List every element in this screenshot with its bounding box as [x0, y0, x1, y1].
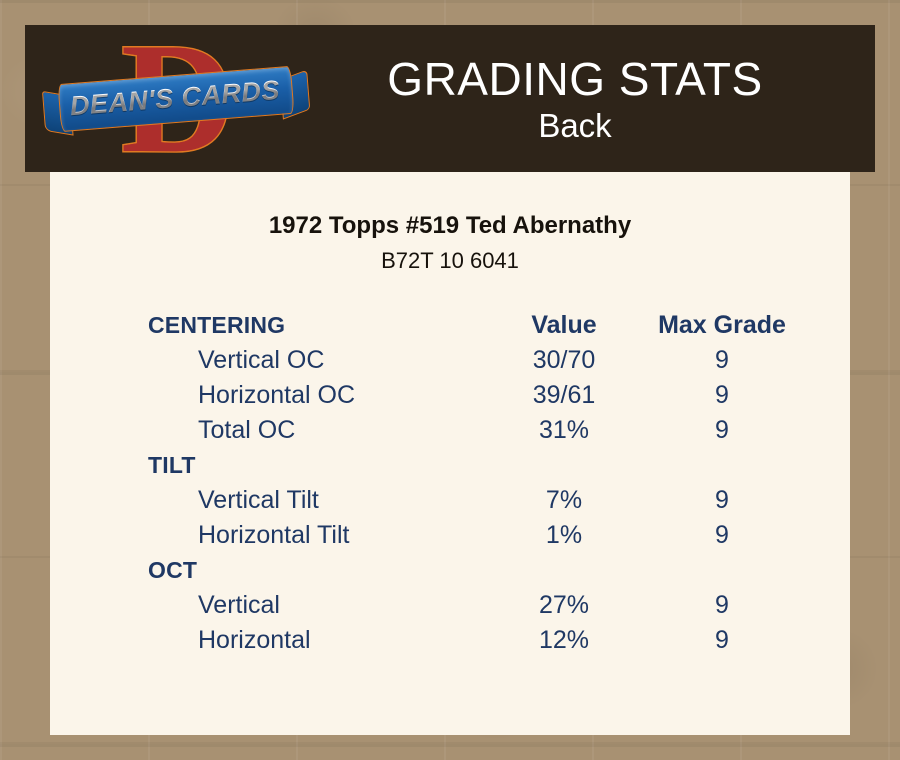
- table-row: Vertical27%9: [148, 588, 800, 623]
- stat-value: 12%: [484, 623, 644, 658]
- page-subtitle: Back: [305, 106, 845, 146]
- stat-max-grade: 9: [644, 483, 800, 518]
- section-title: OCT: [148, 553, 484, 588]
- stat-value: 27%: [484, 588, 644, 623]
- logo-wordmark: DEAN'S CARDS: [48, 65, 303, 131]
- stat-max-grade: 9: [644, 413, 800, 448]
- table-row: Horizontal OC39/619: [148, 378, 800, 413]
- column-header-value: Value: [484, 308, 644, 343]
- stat-label: Horizontal OC: [148, 378, 484, 413]
- stat-max-grade: 9: [644, 343, 800, 378]
- section-header-row: TILT: [148, 448, 800, 483]
- section-header-row: CENTERINGValueMax Grade: [148, 308, 800, 343]
- table-row: Vertical Tilt7%9: [148, 483, 800, 518]
- stat-label: Vertical: [148, 588, 484, 623]
- card-identifier: B72T 10 6041: [50, 248, 850, 274]
- spacer-cell: [484, 553, 644, 588]
- grading-stats-body: CENTERINGValueMax GradeVertical OC30/709…: [148, 308, 800, 658]
- grading-stats-table: CENTERINGValueMax GradeVertical OC30/709…: [148, 308, 800, 658]
- column-header-max-grade: Max Grade: [644, 308, 800, 343]
- stat-label: Vertical Tilt: [148, 483, 484, 518]
- table-row: Total OC31%9: [148, 413, 800, 448]
- stat-value: 1%: [484, 518, 644, 553]
- section-title: TILT: [148, 448, 484, 483]
- stat-value: 30/70: [484, 343, 644, 378]
- stat-max-grade: 9: [644, 623, 800, 658]
- card-title: 1972 Topps #519 Ted Abernathy: [50, 212, 850, 240]
- table-row: Vertical OC30/709: [148, 343, 800, 378]
- table-row: Horizontal Tilt1%9: [148, 518, 800, 553]
- stat-value: 31%: [484, 413, 644, 448]
- spacer-cell: [644, 448, 800, 483]
- stat-label: Vertical OC: [148, 343, 484, 378]
- section-title: CENTERING: [148, 308, 484, 343]
- spacer-cell: [644, 553, 800, 588]
- stat-max-grade: 9: [644, 518, 800, 553]
- section-header-row: OCT: [148, 553, 800, 588]
- stat-max-grade: 9: [644, 378, 800, 413]
- content-panel: 1972 Topps #519 Ted Abernathy B72T 10 60…: [50, 172, 850, 735]
- deans-cards-logo[interactable]: D DEAN'S CARDS: [45, 28, 305, 170]
- stat-value: 7%: [484, 483, 644, 518]
- logo-ribbon: DEAN'S CARDS: [48, 65, 303, 133]
- stat-label: Horizontal: [148, 623, 484, 658]
- stat-value: 39/61: [484, 378, 644, 413]
- header-titles: GRADING STATS Back: [305, 52, 875, 146]
- stat-label: Horizontal Tilt: [148, 518, 484, 553]
- page-title: GRADING STATS: [305, 52, 845, 106]
- header-bar: D DEAN'S CARDS GRADING STATS Back: [25, 25, 875, 172]
- stat-label: Total OC: [148, 413, 484, 448]
- spacer-cell: [484, 448, 644, 483]
- stat-max-grade: 9: [644, 588, 800, 623]
- table-row: Horizontal12%9: [148, 623, 800, 658]
